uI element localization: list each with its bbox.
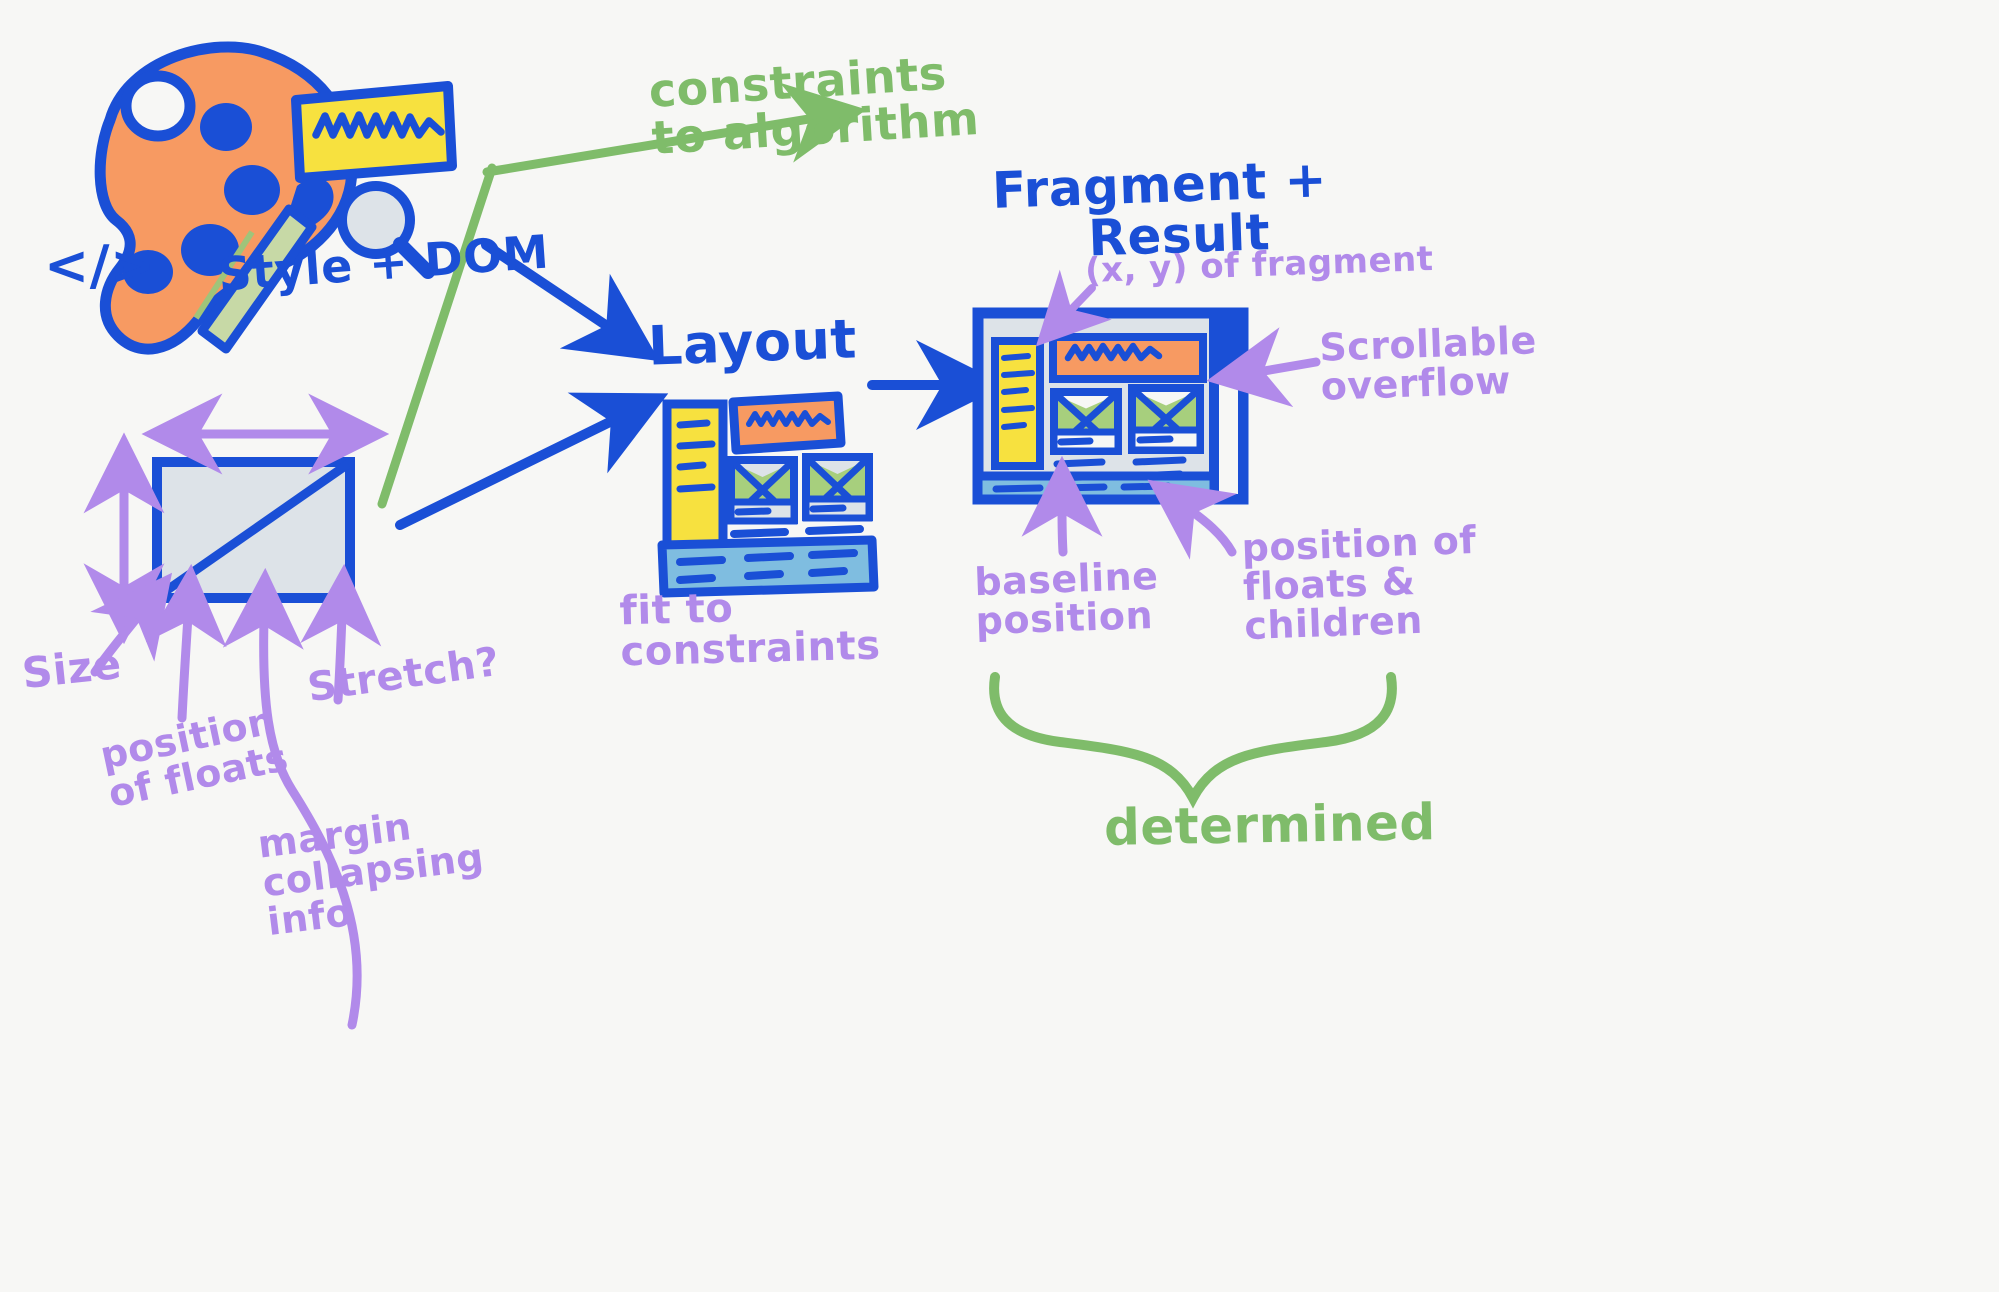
layout-label: Layout [647,311,858,373]
determined-brace [994,677,1392,798]
scrollable-overflow-label: Scrollable overflow [1319,321,1539,406]
scroll-pointer-arrow [1258,362,1316,372]
sized-box-icon [157,462,350,598]
scribble-banner-icon [296,86,452,178]
box-to-layout-arrow [400,418,618,525]
determined-label: determined [1104,797,1437,854]
size-label: Size [20,643,124,696]
code-tag-label: </> [44,238,156,293]
constraints-to-algorithm-label: constraints to algorithm [647,48,980,162]
position-of-floats-children-label: position of floats & children [1241,521,1480,645]
scrollbar-thumb [1214,313,1243,373]
floats-pointer-arrow [182,616,188,718]
floats-children-pointer-arrow [1190,510,1232,552]
fit-to-constraints-label: fit to constraints [619,585,881,673]
layout-wireframe-icon [662,396,874,593]
baseline-position-label: baseline position [974,557,1161,641]
baseline-pointer-arrow [1062,508,1063,552]
diagram-canvas: </> Style + DOM constraints to algorithm… [0,0,1999,1292]
fragment-wireframe-icon [978,313,1243,499]
